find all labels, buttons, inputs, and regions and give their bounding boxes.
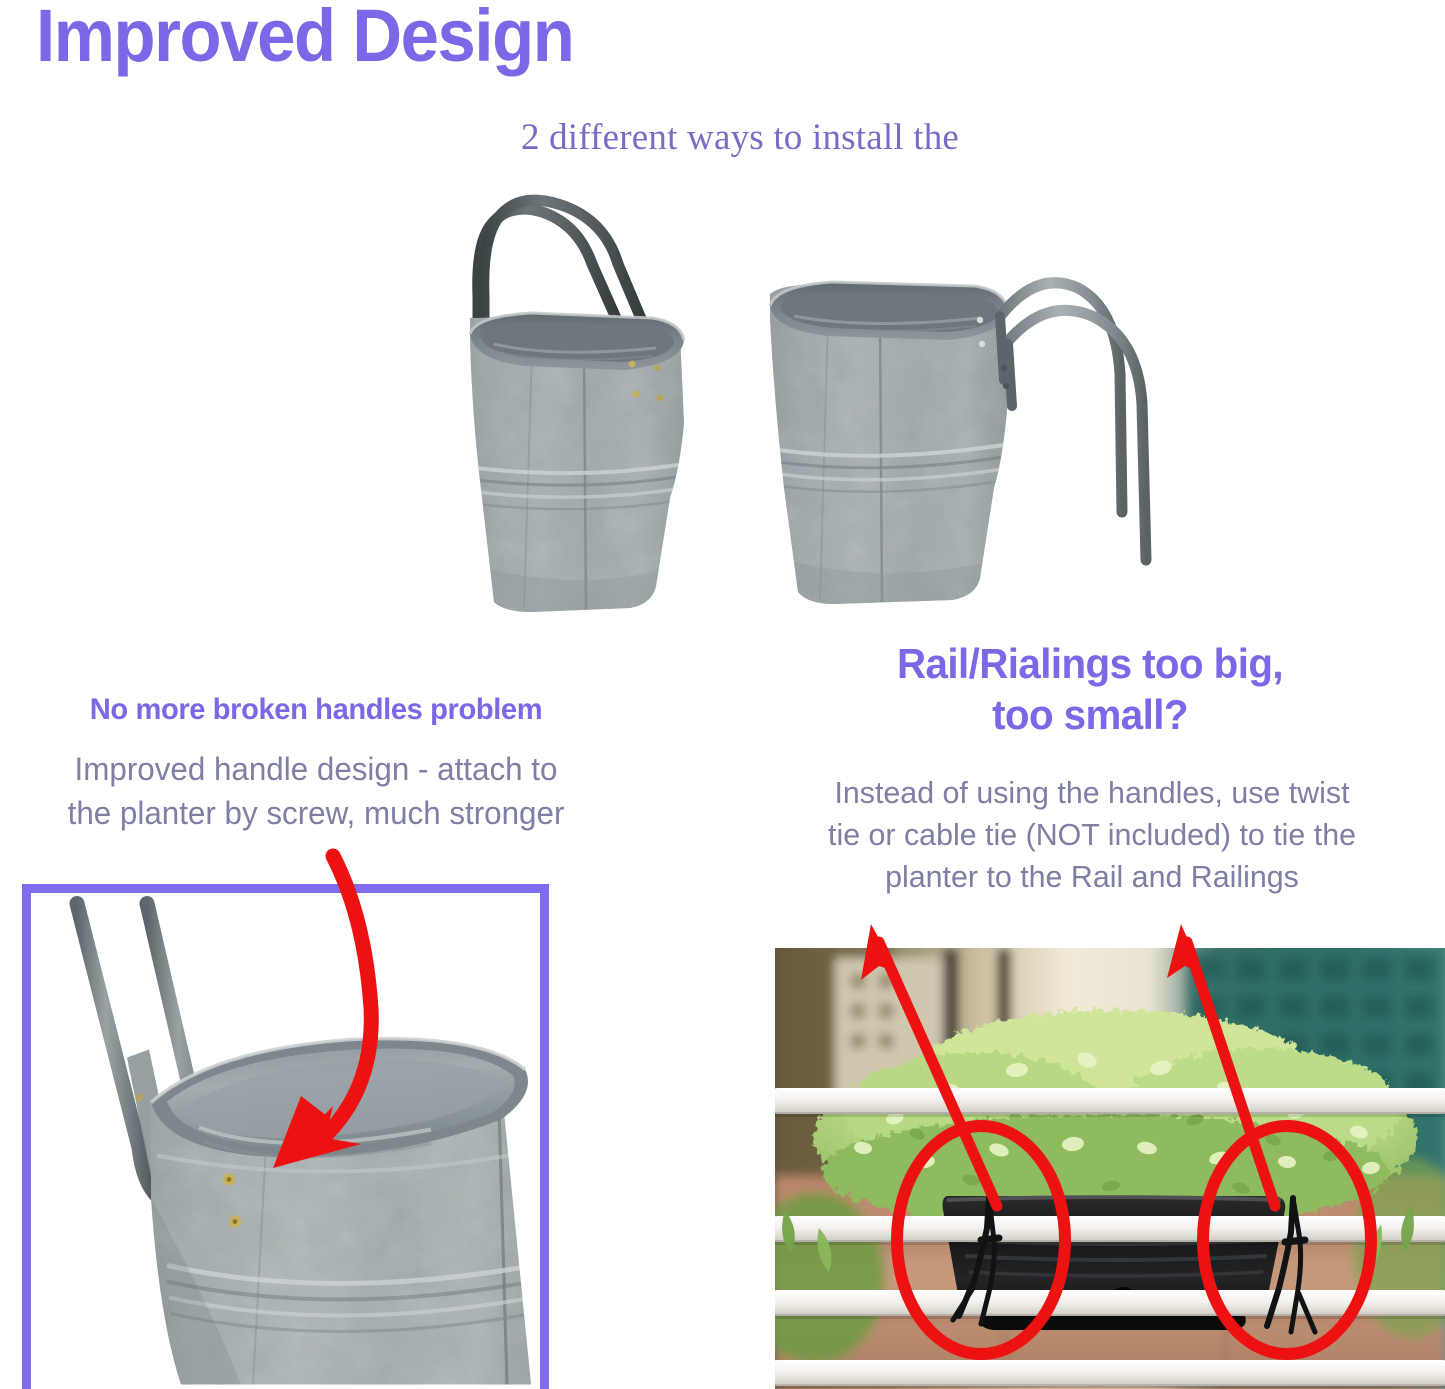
left-section-heading: No more broken handles problem [19,693,613,727]
hero-product-photo [232,168,1182,628]
left-section-body: Improved handle design - attach to the p… [14,748,618,835]
left-body-line-2: the planter by screw, much stronger [14,792,618,836]
handle-detail-photo-frame [22,884,549,1389]
subtitle-line-1: 2 different ways to install the [420,108,1060,168]
left-body-line-1: Improved handle design - attach to [14,748,618,792]
page-title: Improved Design [36,0,573,76]
right-section-heading: Rail/Rialings too big, too small? [802,638,1378,740]
right-heading-line-2: too small? [802,689,1378,740]
right-body-line-3: planter to the Rail and Railings [769,856,1416,898]
right-body-line-2: tie or cable tie (NOT included) to tie t… [769,814,1416,856]
right-body-line-1: Instead of using the handles, use twist [769,772,1416,814]
handle-detail-photo [31,893,540,1389]
railing-installation-photo [775,948,1445,1389]
right-section-body: Instead of using the handles, use twist … [769,772,1416,898]
right-heading-line-1: Rail/Rialings too big, [802,638,1378,689]
